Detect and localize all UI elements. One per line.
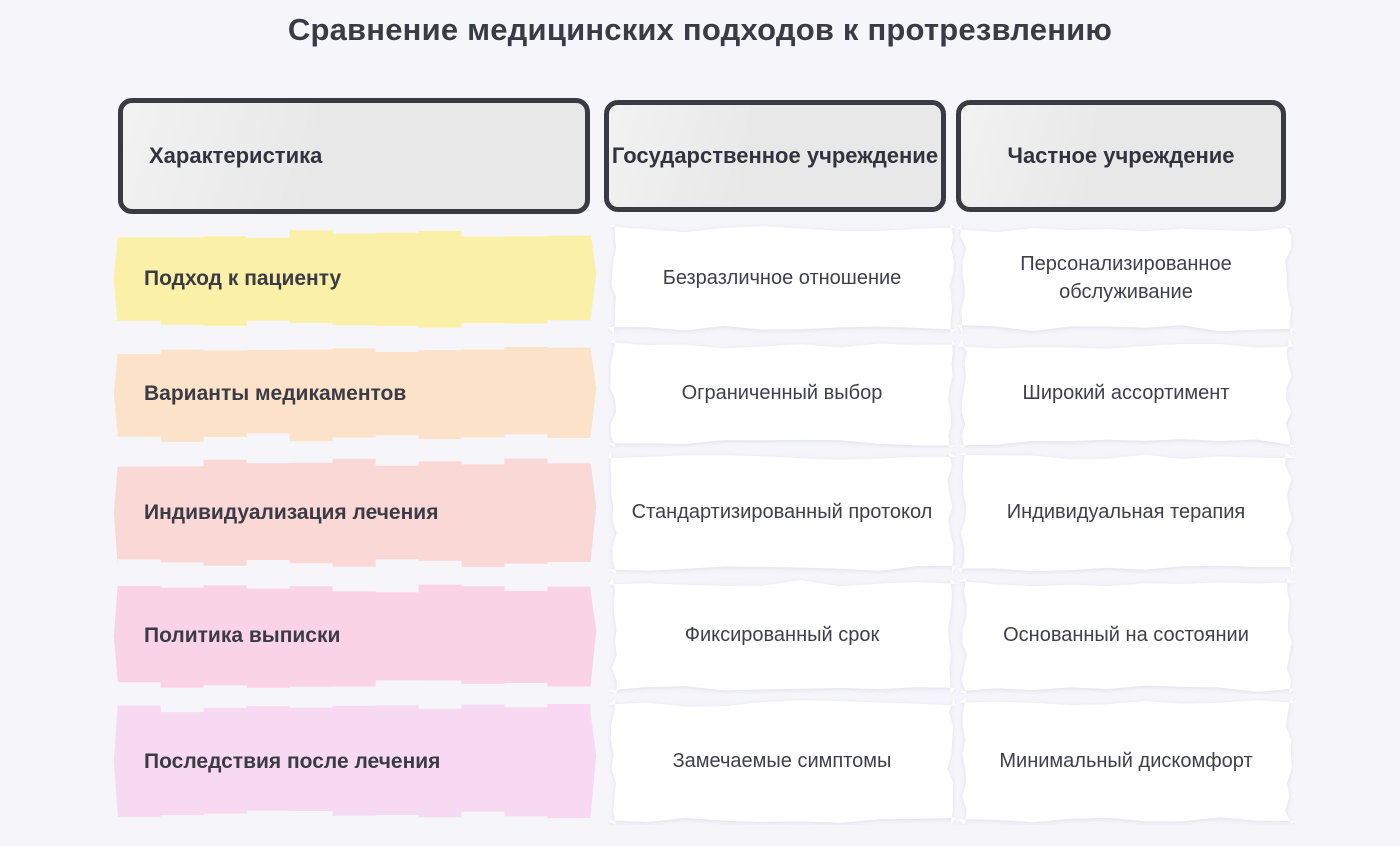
public-value-cell: Стандартизированный протокол [608, 452, 956, 574]
cell-value: Замечаемые симптомы [608, 698, 956, 825]
feature-cell: Варианты медикаментов [110, 340, 602, 448]
public-value-cell: Безразличное отношение [608, 224, 956, 334]
public-value-cell: Замечаемые симптомы [608, 698, 956, 825]
column-header-feature-label: Характеристика [149, 142, 322, 170]
column-header-public: Государственное учреждение [604, 100, 946, 212]
column-header-private-label: Частное учреждение [1007, 142, 1234, 170]
cell-value: Широкий ассортимент [958, 340, 1294, 448]
cell-value: Безразличное отношение [608, 224, 956, 334]
feature-label: Подход к пациенту [144, 224, 574, 334]
private-value-cell: Основанный на состоянии [958, 578, 1294, 694]
feature-label: Последствия после лечения [144, 698, 574, 825]
cell-value: Стандартизированный протокол [608, 452, 956, 574]
table-row: Индивидуализация леченияСтандартизирован… [0, 452, 1400, 574]
table-row: Подход к пациентуБезразличное отношениеП… [0, 224, 1400, 334]
feature-label: Индивидуализация лечения [144, 452, 574, 574]
public-value-cell: Ограниченный выбор [608, 340, 956, 448]
column-header-feature: Характеристика [118, 98, 590, 214]
page-title: Сравнение медицинских подходов к протрез… [0, 12, 1400, 48]
feature-cell: Последствия после лечения [110, 698, 602, 825]
cell-value: Минимальный дискомфорт [958, 698, 1294, 825]
table-header-row: Характеристика Государственное учреждени… [0, 98, 1400, 214]
cell-value: Персонализированное обслуживание [958, 224, 1294, 334]
feature-cell: Политика выписки [110, 578, 602, 694]
feature-label: Варианты медикаментов [144, 340, 574, 448]
private-value-cell: Минимальный дискомфорт [958, 698, 1294, 825]
cell-value: Индивидуальная терапия [958, 452, 1294, 574]
private-value-cell: Персонализированное обслуживание [958, 224, 1294, 334]
feature-cell: Индивидуализация лечения [110, 452, 602, 574]
table-row: Варианты медикаментовОграниченный выборШ… [0, 340, 1400, 448]
column-header-public-label: Государственное учреждение [612, 142, 938, 170]
feature-cell: Подход к пациенту [110, 224, 602, 334]
cell-value: Основанный на состоянии [958, 578, 1294, 694]
private-value-cell: Индивидуальная терапия [958, 452, 1294, 574]
cell-value: Фиксированный срок [608, 578, 956, 694]
table-row: Последствия после леченияЗамечаемые симп… [0, 698, 1400, 825]
feature-label: Политика выписки [144, 578, 574, 694]
table-row: Политика выпискиФиксированный срокОснова… [0, 578, 1400, 694]
public-value-cell: Фиксированный срок [608, 578, 956, 694]
private-value-cell: Широкий ассортимент [958, 340, 1294, 448]
cell-value: Ограниченный выбор [608, 340, 956, 448]
column-header-private: Частное учреждение [956, 100, 1286, 212]
